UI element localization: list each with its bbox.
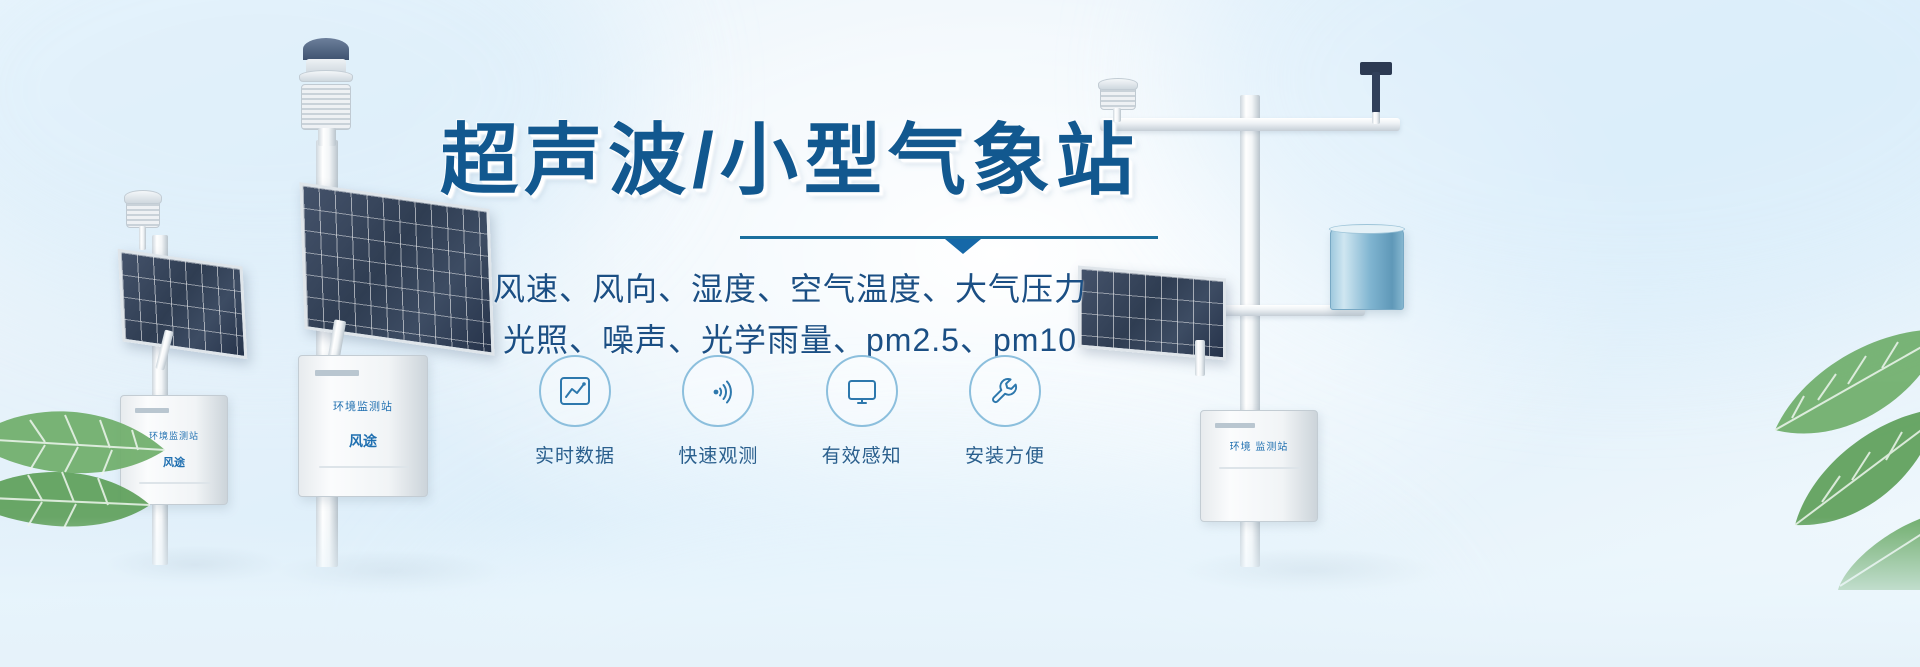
radiation-shield-left — [126, 200, 160, 228]
vane-body — [1372, 72, 1380, 113]
vent-slot — [1215, 423, 1255, 428]
feature-item-easy-install[interactable]: 安装方便 — [945, 355, 1065, 468]
brand-label-center: 风途 — [299, 431, 427, 451]
title-divider — [740, 236, 1158, 250]
sensor-stem-left — [139, 226, 146, 250]
feature-label: 实时数据 — [515, 441, 635, 468]
enclosure-label-center: 环境监测站 — [299, 398, 427, 414]
optical-rain-gauge — [1330, 228, 1404, 310]
feature-label: 快速观测 — [658, 441, 778, 468]
ground-haze — [0, 517, 1920, 667]
product-banner: 环境监测站 风途 环境监测站 风途 — [0, 0, 1920, 667]
banner-title: 超声波/小型气象站 — [440, 118, 1140, 202]
vent-slot — [315, 370, 359, 376]
ultrasonic-dome — [303, 38, 349, 60]
subtitle-line-1: 风速、风向、湿度、空气温度、大气压力 — [440, 264, 1140, 315]
rain-gauge-rim — [1329, 224, 1405, 234]
monitor-icon — [826, 355, 898, 427]
banner-subtitle: 风速、风向、湿度、空气温度、大气压力 光照、噪声、光学雨量、pm2.5、pm10 — [440, 264, 1140, 365]
feature-label: 有效感知 — [802, 441, 922, 468]
enclosure-label-right: 环境 监测站 — [1201, 438, 1317, 453]
feature-item-realtime-data[interactable]: 实时数据 — [515, 355, 635, 468]
chevron-down-triangle-icon — [945, 239, 981, 254]
panel-bracket-right — [1195, 340, 1205, 376]
cross-arm-top — [1100, 118, 1400, 131]
feature-label: 安装方便 — [945, 441, 1065, 468]
box-seam — [1219, 467, 1301, 469]
banner-text-block: 超声波/小型气象站 风速、风向、湿度、空气温度、大气压力 光照、噪声、光学雨量、… — [440, 118, 1140, 365]
sensor-cap-left — [124, 190, 162, 204]
sensor-cap-right — [1098, 78, 1138, 90]
shield-stem-center — [318, 128, 336, 146]
feature-item-fast-observation[interactable]: 快速观测 — [658, 355, 778, 468]
feature-item-effective-sensing[interactable]: 有效感知 — [802, 355, 922, 468]
wrench-icon — [969, 355, 1041, 427]
vane-stem — [1372, 112, 1380, 124]
radiation-shield-center — [301, 84, 351, 130]
ultrasonic-collar — [299, 70, 353, 82]
feature-list: 实时数据 快速观测 有效感知 — [515, 355, 1065, 468]
background-blob-right — [1180, 0, 1920, 340]
enclosure-box-center: 环境监测站 风途 — [298, 355, 428, 497]
enclosure-box-right: 环境 监测站 — [1200, 410, 1318, 522]
signal-wave-icon — [682, 355, 754, 427]
line-chart-icon — [539, 355, 611, 427]
box-seam — [319, 466, 409, 468]
